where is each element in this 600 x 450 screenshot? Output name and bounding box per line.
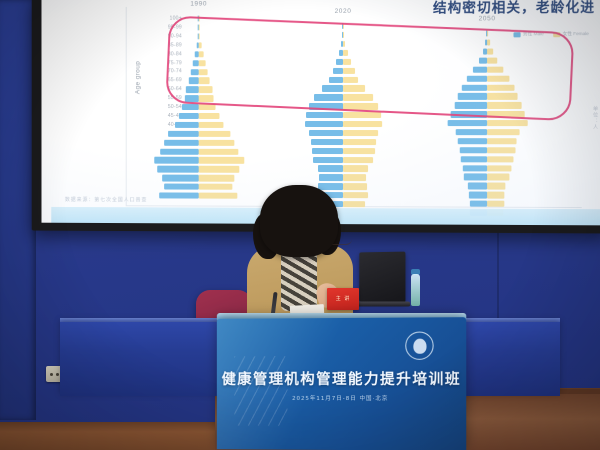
pyramid-bar-female xyxy=(199,122,224,128)
pyramid-row xyxy=(426,128,548,137)
pyramid-row xyxy=(283,155,403,164)
pyramid-bar-female xyxy=(487,165,512,171)
pyramid-bar-female xyxy=(343,139,376,145)
pyramid-bar-female xyxy=(199,175,234,181)
laptop-icon xyxy=(359,252,405,303)
pyramid-bar-female xyxy=(343,112,381,118)
pyramid-row xyxy=(139,112,258,121)
pyramid-row xyxy=(283,129,403,138)
pyramid-year-title: 2020 xyxy=(303,8,383,15)
pyramid-row xyxy=(283,138,403,147)
pyramid-bar-male xyxy=(154,157,199,163)
pyramid-bar-male xyxy=(313,157,343,163)
pyramid-row xyxy=(426,119,548,128)
pyramid-row xyxy=(139,174,258,183)
pyramid-bar-female xyxy=(487,183,506,189)
pyramid-bar-female xyxy=(487,201,504,207)
pyramid-row xyxy=(139,191,258,200)
pyramid-row xyxy=(139,129,258,138)
pyramid-bar-female xyxy=(343,121,382,127)
podium-banner: 健康管理机构管理能力提升培训班 2025年11月7日-8日 中国·北京 xyxy=(217,317,466,450)
pyramid-bar-male xyxy=(305,121,343,127)
pyramid-bar-male xyxy=(462,165,487,171)
pyramid-bar-female xyxy=(199,157,245,163)
pyramid-row xyxy=(139,147,258,156)
pyramid-row xyxy=(283,120,403,129)
pyramid-bar-female xyxy=(487,147,515,153)
presenter-hair xyxy=(260,185,338,257)
pyramid-bar-female xyxy=(343,157,373,163)
pyramid-row xyxy=(426,190,548,199)
pyramid-bar-male xyxy=(469,201,487,207)
slide-right-note: 单位：人 xyxy=(592,106,599,130)
pyramid-bar-female xyxy=(487,129,520,135)
pyramid-bar-female xyxy=(343,148,375,154)
legend-label: 女性 Female xyxy=(563,31,589,37)
pyramid-bar-female xyxy=(487,120,527,126)
pyramid-row xyxy=(139,138,258,147)
pyramid-bar-male xyxy=(175,122,199,128)
pyramid-row xyxy=(139,182,258,191)
pyramid-bar-female xyxy=(199,184,232,190)
pyramid-year-title: 1990 xyxy=(159,0,238,7)
pyramid-bar-male xyxy=(164,184,198,190)
pyramid-bar-male xyxy=(312,148,343,154)
podium-subtitle: 2025年11月7日-8日 中国·北京 xyxy=(217,394,466,402)
pyramid-row xyxy=(139,165,258,174)
pyramid-bar-female xyxy=(199,193,238,199)
pyramid-bar-female xyxy=(199,140,234,146)
wall-panel-left xyxy=(0,0,36,420)
podium-decoration-lines xyxy=(234,356,287,426)
pyramid-bar-male xyxy=(168,131,199,137)
pyramid-row xyxy=(426,173,548,182)
water-bottle-icon xyxy=(411,274,420,306)
slide-headline: 结构密切相关，老龄化进 xyxy=(433,0,595,17)
pyramid-bar-male xyxy=(179,113,199,119)
highlight-annotation xyxy=(165,16,574,122)
pyramid-bar-female xyxy=(343,165,368,171)
pyramid-row xyxy=(426,155,548,164)
pyramid-bar-female xyxy=(199,148,239,154)
pyramid-row xyxy=(426,164,548,173)
pyramid-row xyxy=(283,164,403,173)
nameplate: 主 讲 xyxy=(327,288,359,310)
pyramid-bar-female xyxy=(343,130,378,136)
pyramid-bar-male xyxy=(159,192,199,198)
pyramid-bar-male xyxy=(164,139,198,145)
pyramid-bar-female xyxy=(343,174,366,180)
pyramid-bar-male xyxy=(309,130,343,136)
nameplate-text: 主 讲 xyxy=(327,295,359,302)
pyramid-bar-male xyxy=(163,175,199,181)
pyramid-row xyxy=(426,146,548,155)
institution-emblem-icon xyxy=(405,332,433,360)
pyramid-bar-male xyxy=(318,165,343,171)
chart-y-axis xyxy=(126,7,127,205)
pyramid-bar-male xyxy=(469,192,488,198)
pyramid-bar-male xyxy=(464,174,487,180)
pyramid-bar-male xyxy=(458,138,487,144)
pyramid-bar-male xyxy=(455,129,487,135)
pyramid-bar-male xyxy=(468,183,487,189)
pyramid-year-title: 2050 xyxy=(447,15,528,22)
pyramid-bar-male xyxy=(460,147,487,153)
pyramid-bar-male xyxy=(182,104,199,110)
pyramid-bar-female xyxy=(199,113,219,119)
pyramid-row xyxy=(283,173,403,182)
pyramid-bar-female xyxy=(199,166,240,172)
pyramid-row xyxy=(426,181,548,190)
pyramid-row xyxy=(426,199,548,208)
pyramid-bar-male xyxy=(157,166,198,172)
pyramid-row xyxy=(426,137,548,146)
pyramid-bar-female xyxy=(199,131,231,137)
pyramid-bar-male xyxy=(311,139,343,145)
pyramid-bar-female xyxy=(487,192,505,198)
pyramid-bar-female xyxy=(487,174,509,180)
pyramid-bar-male xyxy=(160,148,199,154)
pyramid-row xyxy=(139,121,258,130)
pyramid-row xyxy=(283,146,403,155)
pyramid-bar-female xyxy=(487,138,517,144)
pyramid-bar-male xyxy=(306,112,343,118)
slide-footnote: 数据来源：第七次全国人口普查 xyxy=(65,196,147,203)
pyramid-bar-female xyxy=(487,156,514,162)
pyramid-bar-male xyxy=(447,120,487,126)
pyramid-bar-male xyxy=(319,174,343,180)
presentation-room-photo: 结构密切相关，老龄化进 Age group 100+95-9990-9485-8… xyxy=(0,0,600,450)
pyramid-bar-male xyxy=(461,156,487,162)
podium-title: 健康管理机构管理能力提升培训班 xyxy=(217,368,466,389)
pyramid-row xyxy=(139,156,258,165)
